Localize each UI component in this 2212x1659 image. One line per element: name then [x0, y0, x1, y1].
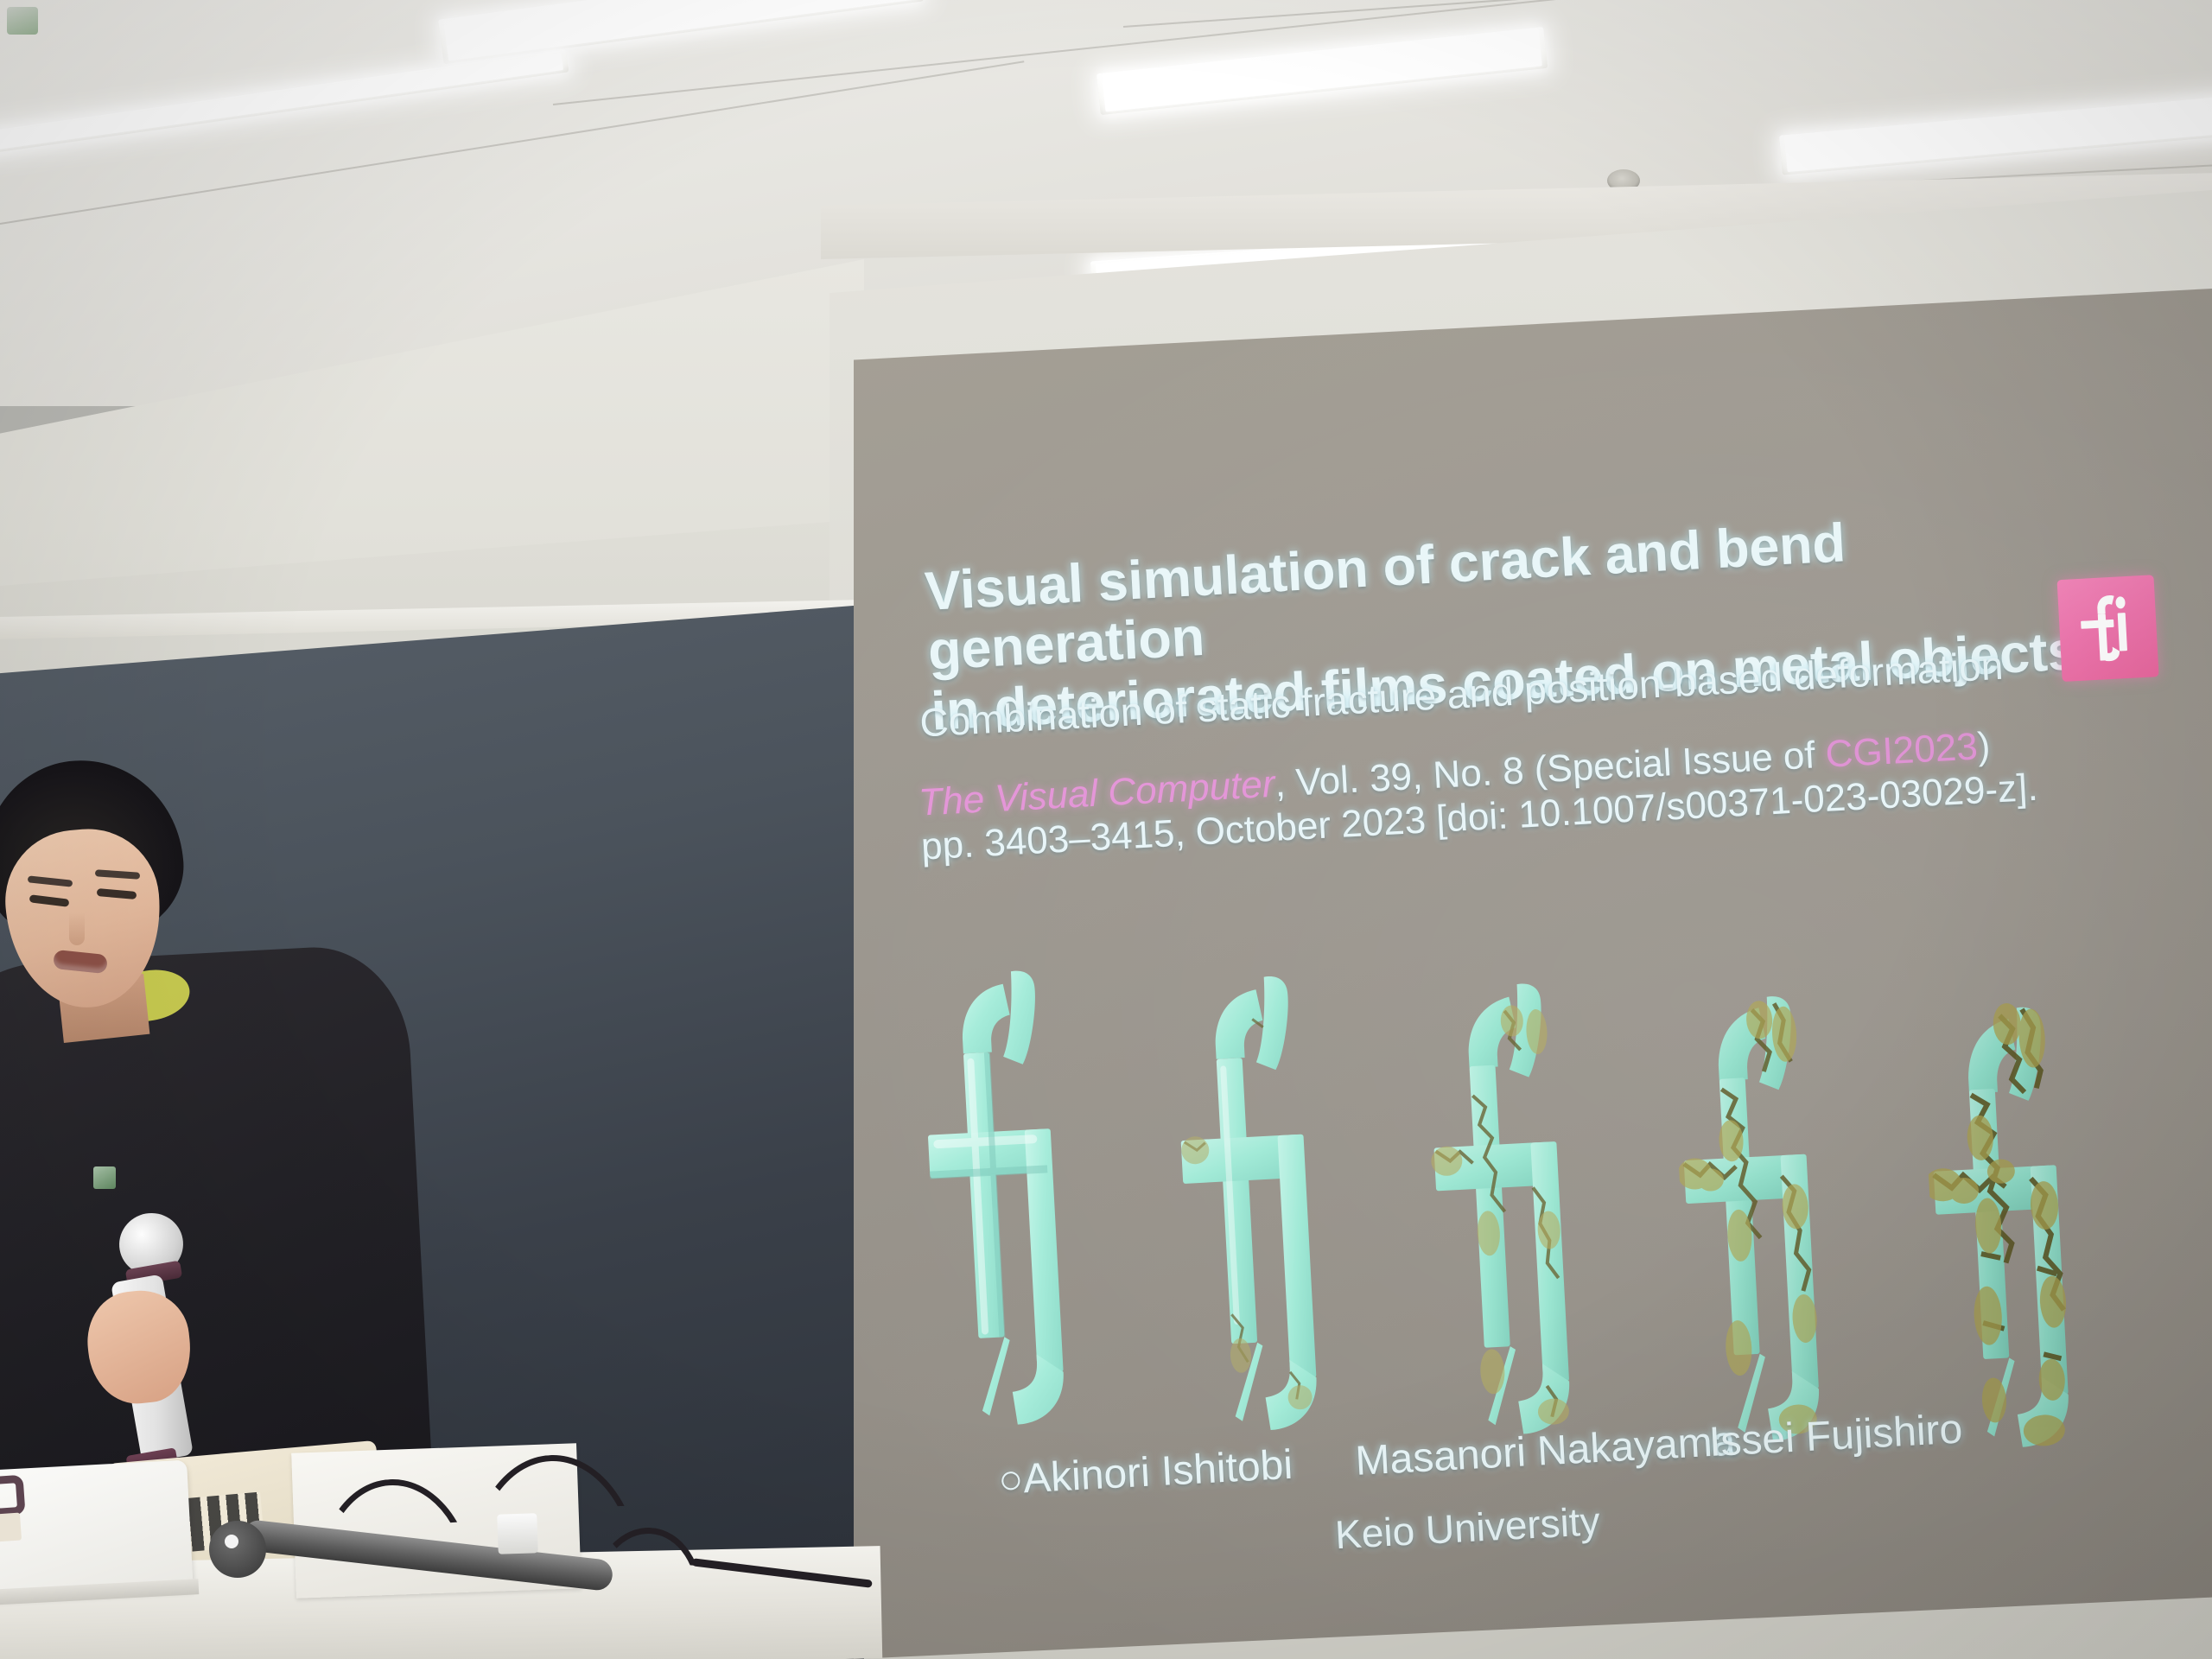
model-stage-5 — [1919, 987, 2143, 1471]
author-name: Masanori Nakayama — [1354, 1418, 1736, 1485]
ceiling-indicator-icon — [7, 7, 38, 35]
microphone-stand-head-icon — [209, 1521, 266, 1578]
conference-name: CGI2023 — [1824, 725, 1978, 775]
model-stage-1 — [913, 956, 1137, 1440]
lecture-room-scene: Visual simulation of crack and bend gene… — [0, 0, 2212, 1659]
citation-close-paren: ) — [1976, 725, 1991, 768]
projection-screen: Visual simulation of crack and bend gene… — [854, 289, 2212, 1659]
slide-citation: The Visual Computer, Vol. 39, No. 8 (Spe… — [918, 715, 2173, 869]
podium — [0, 1460, 864, 1659]
model-stage-3 — [1420, 967, 1643, 1452]
presenter-nose — [69, 912, 85, 945]
ring-clip-icon — [0, 1475, 26, 1517]
author-name: ○Akinori Ishitobi — [997, 1441, 1294, 1504]
model-stage-4 — [1669, 978, 1893, 1463]
affiliation: Keio University — [1334, 1497, 1601, 1558]
model-stage-2 — [1166, 961, 1390, 1446]
lapel-pin-icon — [93, 1166, 116, 1189]
clip-tab — [0, 1513, 22, 1543]
presentation-slide: Visual simulation of crack and bend gene… — [854, 289, 2212, 1659]
fj-logo-glyph — [2075, 589, 2140, 667]
laptop[interactable] — [0, 1460, 194, 1601]
fj-ligature-logo-icon — [2057, 575, 2159, 682]
microphone-stand-tip — [225, 1535, 238, 1548]
figure-model-row — [913, 894, 2190, 1444]
